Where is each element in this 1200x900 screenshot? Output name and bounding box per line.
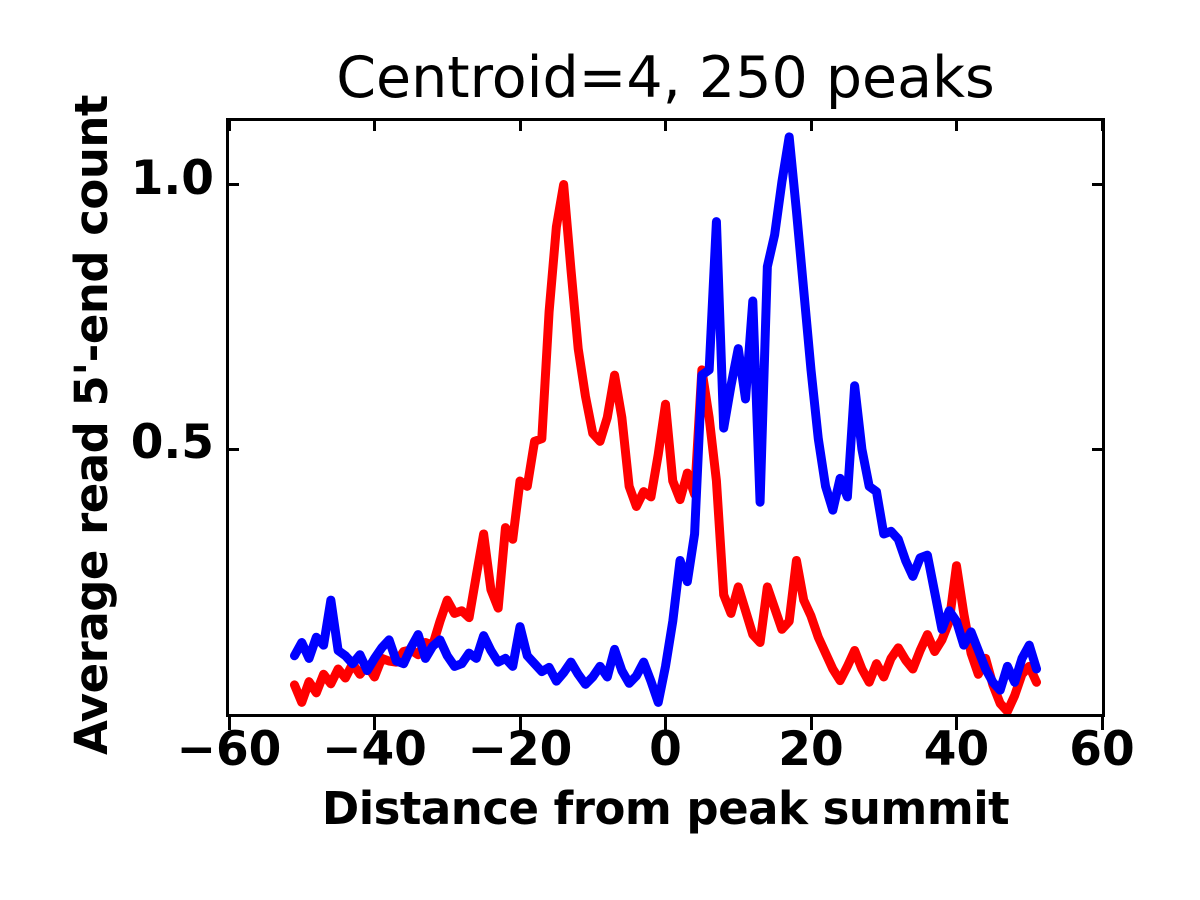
chart-figure: Centroid=4, 250 peaks Average read 5'-en… <box>0 0 1200 900</box>
x-tick-mark-top <box>664 118 667 131</box>
x-tick-mark-top <box>955 118 958 131</box>
y-tick-mark-right <box>1092 183 1105 186</box>
x-tick-label: 40 <box>887 722 1027 777</box>
y-tick-mark-right <box>1092 448 1105 451</box>
x-tick-label: 60 <box>1032 722 1172 777</box>
series-canvas <box>229 121 1102 714</box>
plot-area <box>226 118 1105 717</box>
x-axis-label: Distance from peak summit <box>226 782 1105 835</box>
y-tick-label: 1.0 <box>16 151 214 206</box>
series-line-minus-strand <box>294 185 1036 712</box>
x-tick-label: −60 <box>159 722 299 777</box>
x-tick-mark-top <box>519 118 522 131</box>
x-tick-mark-top <box>1101 118 1104 131</box>
chart-title: Centroid=4, 250 peaks <box>226 46 1105 110</box>
y-tick-label: 0.5 <box>16 415 214 470</box>
x-tick-mark-top <box>373 118 376 131</box>
x-tick-mark-top <box>228 118 231 131</box>
y-tick-mark <box>226 448 239 451</box>
x-tick-mark-top <box>810 118 813 131</box>
y-tick-mark <box>226 183 239 186</box>
x-tick-label: −40 <box>305 722 445 777</box>
x-tick-label: 0 <box>596 722 736 777</box>
x-tick-label: 20 <box>741 722 881 777</box>
x-tick-label: −20 <box>450 722 590 777</box>
